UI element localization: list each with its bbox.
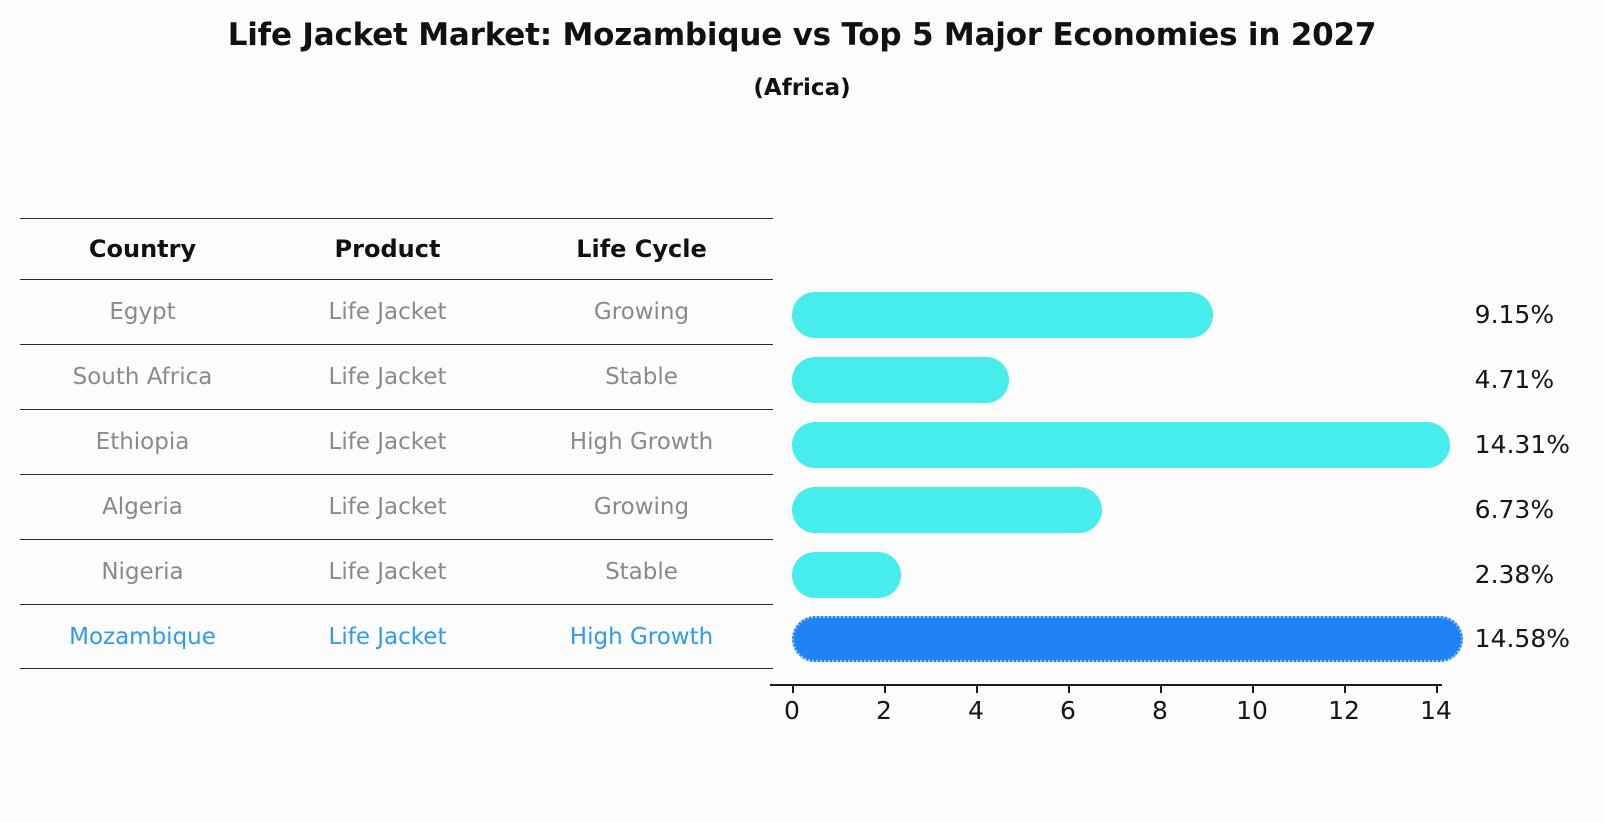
cell-country: Algeria (20, 494, 265, 520)
table-row[interactable]: Nigeria Life Jacket Stable (20, 539, 773, 604)
column-header-life-cycle: Life Cycle (510, 235, 773, 263)
table-row[interactable]: Ethiopia Life Jacket High Growth (20, 409, 773, 474)
cell-life-cycle: High Growth (510, 624, 773, 650)
bar-mozambique[interactable] (792, 616, 1463, 662)
cell-country: Egypt (20, 299, 265, 325)
cell-life-cycle: Growing (510, 494, 773, 520)
x-tick-label: 8 (1152, 696, 1168, 725)
x-tick-label: 0 (784, 696, 800, 725)
x-axis: 02468101214 (792, 684, 1464, 734)
bar-value-label: 14.31% (1475, 422, 1570, 468)
bar-ethiopia[interactable] (792, 422, 1450, 468)
bar-value-label: 9.15% (1475, 292, 1554, 338)
table-header-row: Country Product Life Cycle (20, 218, 773, 279)
cell-product: Life Jacket (265, 624, 510, 650)
cell-product: Life Jacket (265, 559, 510, 585)
cell-country: Mozambique (20, 624, 265, 650)
bar-value-label: 2.38% (1475, 552, 1554, 598)
x-tick-label: 2 (876, 696, 892, 725)
bar-value-label: 14.58% (1475, 616, 1570, 662)
x-tick (1160, 684, 1162, 693)
x-tick (1252, 684, 1254, 693)
cell-product: Life Jacket (265, 299, 510, 325)
table-row[interactable]: Algeria Life Jacket Growing (20, 474, 773, 539)
x-tick (884, 684, 886, 693)
bar-value-label: 4.71% (1475, 357, 1554, 403)
cell-life-cycle: Stable (510, 364, 773, 390)
column-header-country: Country (20, 235, 265, 263)
x-tick (792, 684, 794, 693)
title-block: Life Jacket Market: Mozambique vs Top 5 … (0, 14, 1604, 108)
cell-product: Life Jacket (265, 429, 510, 455)
cell-country: Nigeria (20, 559, 265, 585)
cell-country: South Africa (20, 364, 265, 390)
x-tick (1068, 684, 1070, 693)
x-tick-label: 10 (1236, 696, 1268, 725)
column-header-product: Product (265, 235, 510, 263)
page-subtitle: (Africa) (0, 68, 1604, 108)
x-tick-label: 6 (1060, 696, 1076, 725)
country-table: Country Product Life Cycle Egypt Life Ja… (20, 218, 773, 669)
bar-algeria[interactable] (792, 487, 1102, 533)
x-tick-label: 14 (1420, 696, 1452, 725)
cell-country: Ethiopia (20, 429, 265, 455)
bar-value-label: 6.73% (1475, 487, 1554, 533)
x-tick (976, 684, 978, 693)
x-tick (1344, 684, 1346, 693)
bar-egypt[interactable] (792, 292, 1213, 338)
cell-life-cycle: Growing (510, 299, 773, 325)
x-tick (1436, 684, 1438, 693)
table-row[interactable]: South Africa Life Jacket Stable (20, 344, 773, 409)
cell-life-cycle: Stable (510, 559, 773, 585)
x-axis-line (770, 684, 1442, 686)
table-row[interactable]: Egypt Life Jacket Growing (20, 279, 773, 344)
cell-product: Life Jacket (265, 494, 510, 520)
cell-life-cycle: High Growth (510, 429, 773, 455)
table-row-highlighted[interactable]: Mozambique Life Jacket High Growth (20, 604, 773, 669)
bar-south-africa[interactable] (792, 357, 1009, 403)
cell-product: Life Jacket (265, 364, 510, 390)
bar-nigeria[interactable] (792, 552, 901, 598)
page-title: Life Jacket Market: Mozambique vs Top 5 … (0, 14, 1604, 56)
x-tick-label: 12 (1328, 696, 1360, 725)
x-tick-label: 4 (968, 696, 984, 725)
